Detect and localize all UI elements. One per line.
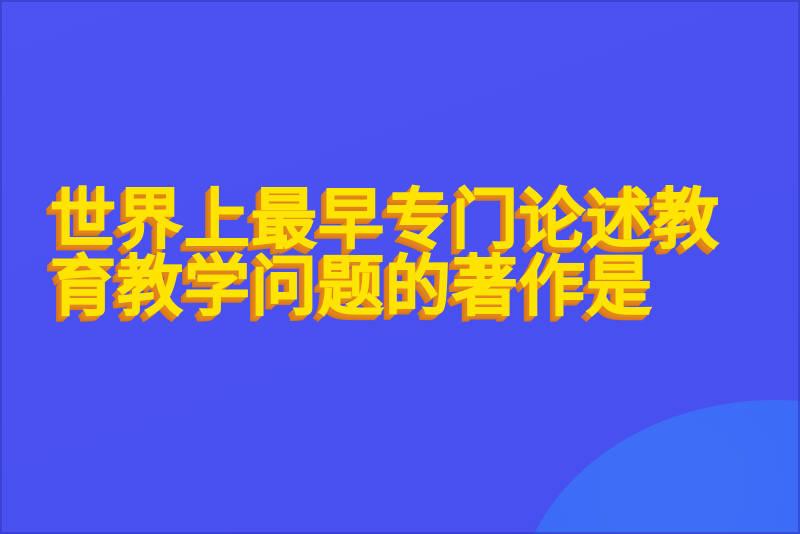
headline-line-2: 育教学问题的著作是 [50,253,760,320]
headline-line-1: 世界上最早专门论述教 [50,186,760,253]
title-card-slide: 世界上最早专门论述教 育教学问题的著作是 [0,0,800,534]
headline-text-block: 世界上最早专门论述教 育教学问题的著作是 [50,186,760,320]
